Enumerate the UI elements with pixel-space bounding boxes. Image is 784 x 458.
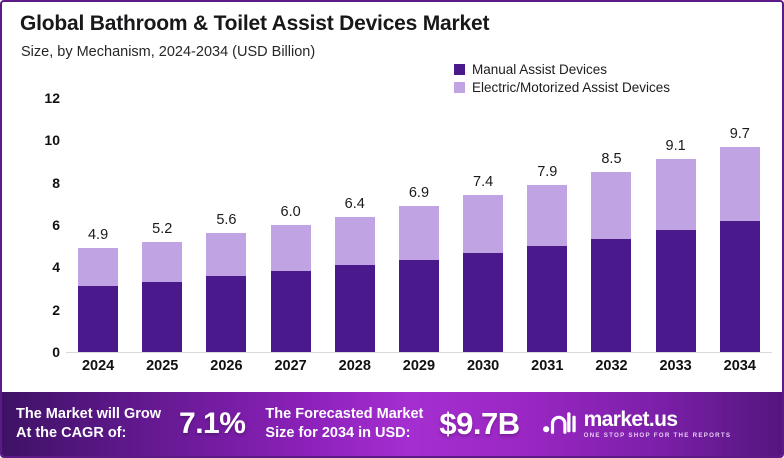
bar-segment-electric[interactable] bbox=[656, 159, 696, 230]
x-tick-label: 2026 bbox=[206, 358, 246, 374]
bar-group-2034[interactable]: 9.7 bbox=[720, 98, 760, 352]
y-tick-label: 10 bbox=[44, 132, 60, 148]
x-tick-label: 2028 bbox=[335, 358, 375, 374]
axis-baseline bbox=[66, 352, 772, 353]
legend-swatch-icon bbox=[454, 64, 465, 75]
x-tick-label: 2032 bbox=[591, 358, 631, 374]
chart-legend: Manual Assist DevicesElectric/Motorized … bbox=[454, 62, 670, 95]
bar-segment-manual[interactable] bbox=[78, 286, 118, 352]
stacked-bar[interactable] bbox=[463, 195, 503, 352]
bar-value-label: 5.6 bbox=[216, 212, 236, 228]
x-tick-label: 2029 bbox=[399, 358, 439, 374]
x-tick-label: 2033 bbox=[656, 358, 696, 374]
bar-value-label: 8.5 bbox=[601, 151, 621, 167]
bar-group-2026[interactable]: 5.6 bbox=[206, 98, 246, 352]
brand-text: market.us ONE STOP SHOP FOR THE REPORTS bbox=[584, 409, 732, 439]
stacked-bar[interactable] bbox=[527, 185, 567, 352]
brand-tagline: ONE STOP SHOP FOR THE REPORTS bbox=[584, 433, 732, 439]
bar-group-2032[interactable]: 8.5 bbox=[591, 98, 631, 352]
stacked-bar[interactable] bbox=[656, 159, 696, 352]
bar-segment-manual[interactable] bbox=[720, 221, 760, 352]
bar-segment-electric[interactable] bbox=[591, 172, 631, 239]
x-tick-label: 2034 bbox=[720, 358, 760, 374]
bar-chart-logo-icon bbox=[542, 409, 576, 440]
bar-segment-electric[interactable] bbox=[463, 195, 503, 252]
bar-segment-manual[interactable] bbox=[527, 246, 567, 352]
cagr-value: 7.1% bbox=[179, 407, 245, 441]
brand-logo: market.us ONE STOP SHOP FOR THE REPORTS bbox=[542, 409, 732, 440]
legend-swatch-icon bbox=[454, 82, 465, 93]
bar-segment-manual[interactable] bbox=[271, 271, 311, 352]
bar-group-2031[interactable]: 7.9 bbox=[527, 98, 567, 352]
y-tick-label: 2 bbox=[52, 302, 60, 318]
bar-segment-manual[interactable] bbox=[463, 253, 503, 352]
bar-segment-electric[interactable] bbox=[720, 147, 760, 221]
x-tick-label: 2031 bbox=[527, 358, 567, 374]
bar-segment-manual[interactable] bbox=[335, 265, 375, 352]
bar-series-container: 4.95.25.66.06.46.97.47.98.59.19.7 bbox=[66, 98, 772, 352]
bar-value-label: 7.4 bbox=[473, 174, 493, 190]
stacked-bar[interactable] bbox=[399, 206, 439, 352]
bar-segment-manual[interactable] bbox=[591, 239, 631, 352]
x-tick-label: 2025 bbox=[142, 358, 182, 374]
bar-group-2030[interactable]: 7.4 bbox=[463, 98, 503, 352]
legend-item-1[interactable]: Electric/Motorized Assist Devices bbox=[454, 80, 670, 95]
bar-segment-manual[interactable] bbox=[656, 230, 696, 352]
bar-group-2028[interactable]: 6.4 bbox=[335, 98, 375, 352]
forecast-value: $9.7B bbox=[439, 406, 519, 442]
footer-banner: The Market will Grow At the CAGR of: 7.1… bbox=[2, 392, 784, 456]
bar-segment-electric[interactable] bbox=[142, 242, 182, 282]
y-tick-label: 12 bbox=[44, 90, 60, 106]
stacked-bar[interactable] bbox=[142, 242, 182, 352]
cagr-label: The Market will Grow At the CAGR of: bbox=[16, 405, 161, 442]
y-tick-label: 4 bbox=[52, 259, 60, 275]
bar-value-label: 9.1 bbox=[666, 138, 686, 154]
bar-segment-electric[interactable] bbox=[78, 248, 118, 286]
y-tick-label: 8 bbox=[52, 175, 60, 191]
x-tick-label: 2030 bbox=[463, 358, 503, 374]
y-tick-label: 0 bbox=[52, 344, 60, 360]
bar-segment-electric[interactable] bbox=[335, 217, 375, 266]
brand-name: market.us bbox=[584, 409, 732, 430]
bar-group-2027[interactable]: 6.0 bbox=[271, 98, 311, 352]
bar-segment-electric[interactable] bbox=[271, 225, 311, 271]
y-tick-label: 6 bbox=[52, 217, 60, 233]
legend-label: Manual Assist Devices bbox=[472, 62, 607, 77]
stacked-bar[interactable] bbox=[335, 217, 375, 352]
bar-segment-manual[interactable] bbox=[142, 282, 182, 352]
bar-segment-manual[interactable] bbox=[206, 276, 246, 352]
bar-value-label: 9.7 bbox=[730, 126, 750, 142]
bar-segment-electric[interactable] bbox=[206, 233, 246, 275]
x-tick-label: 2024 bbox=[78, 358, 118, 374]
bar-value-label: 7.9 bbox=[537, 164, 557, 180]
stacked-bar[interactable] bbox=[271, 225, 311, 352]
stacked-bar[interactable] bbox=[720, 147, 760, 352]
bar-group-2033[interactable]: 9.1 bbox=[656, 98, 696, 352]
y-axis: 024681012 bbox=[28, 98, 60, 352]
bar-value-label: 6.4 bbox=[345, 196, 365, 212]
chart-subtitle: Size, by Mechanism, 2024-2034 (USD Billi… bbox=[21, 44, 315, 60]
x-axis: 2024202520262027202820292030203120322033… bbox=[66, 358, 772, 384]
bar-value-label: 6.0 bbox=[281, 204, 301, 220]
bar-group-2029[interactable]: 6.9 bbox=[399, 98, 439, 352]
forecast-label: The Forecasted Market Size for 2034 in U… bbox=[265, 405, 423, 442]
bar-segment-electric[interactable] bbox=[527, 185, 567, 246]
chart-infographic: Global Bathroom & Toilet Assist Devices … bbox=[0, 0, 784, 458]
x-tick-label: 2027 bbox=[271, 358, 311, 374]
plot-area: 4.95.25.66.06.46.97.47.98.59.19.7 bbox=[66, 98, 772, 352]
stacked-bar[interactable] bbox=[78, 248, 118, 352]
bar-group-2025[interactable]: 5.2 bbox=[142, 98, 182, 352]
bar-value-label: 6.9 bbox=[409, 185, 429, 201]
legend-item-0[interactable]: Manual Assist Devices bbox=[454, 62, 670, 77]
stacked-bar[interactable] bbox=[206, 233, 246, 352]
bar-segment-electric[interactable] bbox=[399, 206, 439, 260]
stacked-bar[interactable] bbox=[591, 172, 631, 352]
legend-label: Electric/Motorized Assist Devices bbox=[472, 80, 670, 95]
bar-value-label: 4.9 bbox=[88, 227, 108, 243]
page-title: Global Bathroom & Toilet Assist Devices … bbox=[20, 12, 489, 36]
bar-value-label: 5.2 bbox=[152, 221, 172, 237]
bar-segment-manual[interactable] bbox=[399, 260, 439, 352]
bar-group-2024[interactable]: 4.9 bbox=[78, 98, 118, 352]
